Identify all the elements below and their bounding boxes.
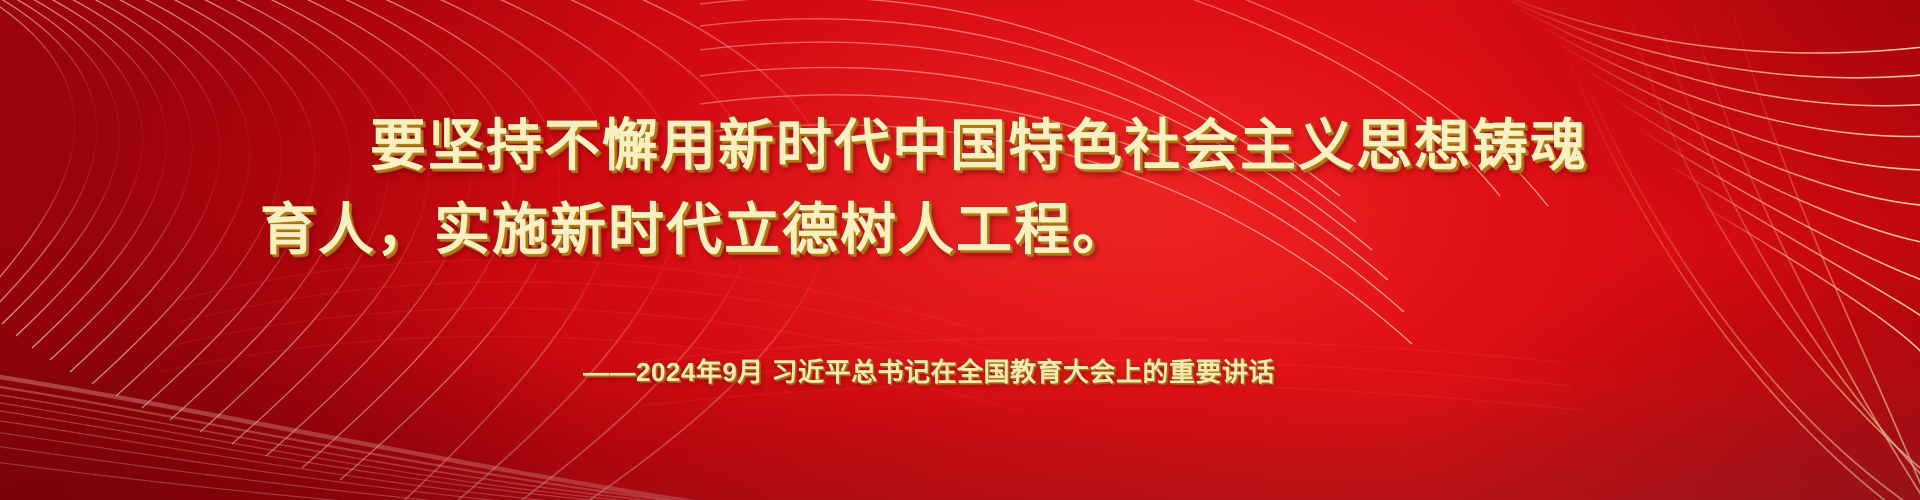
attribution-text: ——2024年9月 习近平总书记在全国教育大会上的重要讲话 bbox=[0, 352, 1920, 392]
headline: 要坚持不懈用新时代中国特色社会主义思想铸魂 育人，实施新时代立德树人工程。 bbox=[0, 104, 1920, 272]
banner-content: 要坚持不懈用新时代中国特色社会主义思想铸魂 育人，实施新时代立德树人工程。 ——… bbox=[0, 0, 1920, 500]
headline-line-1: 要坚持不懈用新时代中国特色社会主义思想铸魂 bbox=[0, 104, 1920, 188]
propaganda-banner: 要坚持不懈用新时代中国特色社会主义思想铸魂 育人，实施新时代立德树人工程。 ——… bbox=[0, 0, 1920, 500]
headline-line-2: 育人，实施新时代立德树人工程。 bbox=[0, 188, 1920, 272]
